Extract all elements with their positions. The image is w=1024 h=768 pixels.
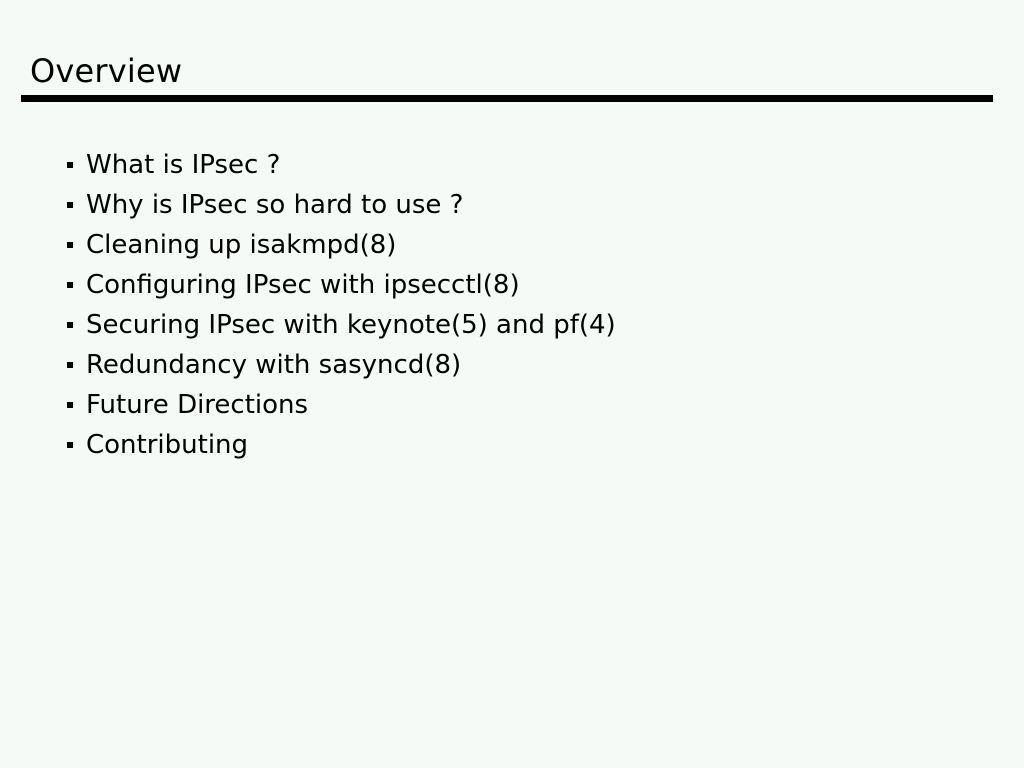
square-bullet-icon: [67, 442, 73, 448]
list-item: Future Directions: [67, 385, 967, 425]
square-bullet-icon: [67, 282, 73, 288]
list-item: Why is IPsec so hard to use ?: [67, 185, 967, 225]
list-item-label: Why is IPsec so hard to use ?: [86, 185, 463, 225]
title-divider: [21, 95, 993, 102]
page-title: Overview: [30, 51, 182, 91]
list-item-label: Configuring IPsec with ipsecctl(8): [86, 265, 520, 305]
list-item-label: Future Directions: [86, 385, 308, 425]
square-bullet-icon: [67, 202, 73, 208]
square-bullet-icon: [67, 242, 73, 248]
list-item-label: Redundancy with sasyncd(8): [86, 345, 461, 385]
list-item: Securing IPsec with keynote(5) and pf(4): [67, 305, 967, 345]
square-bullet-icon: [67, 322, 73, 328]
square-bullet-icon: [67, 402, 73, 408]
square-bullet-icon: [67, 362, 73, 368]
list-item: Cleaning up isakmpd(8): [67, 225, 967, 265]
list-item-label: Cleaning up isakmpd(8): [86, 225, 396, 265]
list-item: Contributing: [67, 425, 967, 465]
list-item-label: Securing IPsec with keynote(5) and pf(4): [86, 305, 616, 345]
list-item: What is IPsec ?: [67, 145, 967, 185]
presentation-slide: Overview What is IPsec ? Why is IPsec so…: [0, 0, 1024, 768]
overview-bullet-list: What is IPsec ? Why is IPsec so hard to …: [67, 145, 967, 465]
square-bullet-icon: [67, 162, 73, 168]
list-item: Redundancy with sasyncd(8): [67, 345, 967, 385]
list-item: Configuring IPsec with ipsecctl(8): [67, 265, 967, 305]
list-item-label: What is IPsec ?: [86, 145, 280, 185]
list-item-label: Contributing: [86, 425, 248, 465]
